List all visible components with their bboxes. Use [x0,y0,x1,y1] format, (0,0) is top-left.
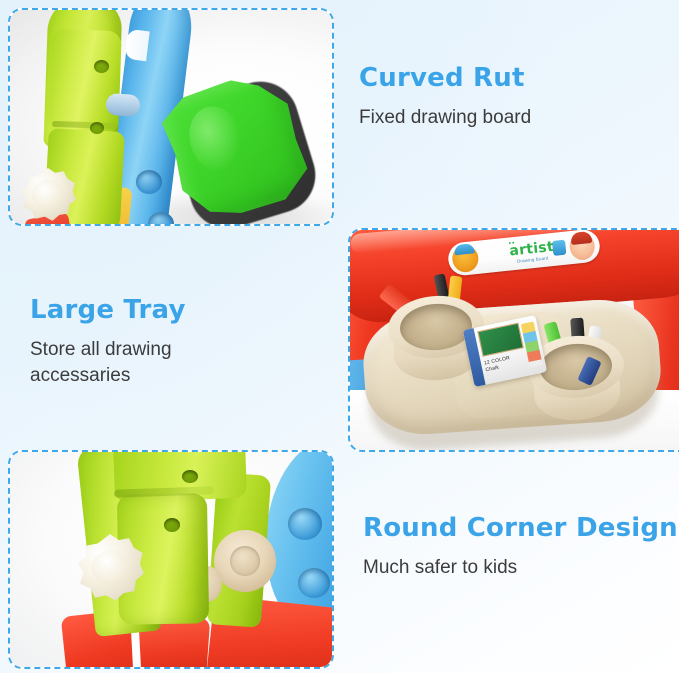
feature-heading-large-tray: Large Tray [30,295,310,325]
green-frame-middle [48,29,122,135]
girl-artist-hair-icon [570,231,592,245]
star-knob-face [92,550,130,586]
adjustment-hole-upper [182,470,198,483]
photo-panel-large-tray: •• artist Drawing Board [348,228,679,452]
adjustment-hole-upper [94,60,109,73]
feature-description-round-corner: Much safer to kids [363,555,673,581]
curved-rut-pin [105,93,140,117]
star-knob-face [32,180,64,210]
feature-heading-curved-rut: Curved Rut [359,63,659,93]
photo-panel-curved-rut [8,8,334,226]
feature-heading-round-corner: Round Corner Design [363,513,673,543]
blue-leg-notch [124,29,149,61]
infographic-canvas: Curved Rut Fixed drawing board Large Tra… [0,0,679,673]
blue-dimple-upper [136,170,162,194]
photo-curved-rut [10,10,332,224]
photo-large-tray: •• artist Drawing Board [350,230,679,450]
feature-description-large-tray: Store all drawing accessaries [30,337,240,388]
lion-cap-icon [454,243,475,255]
adjustment-hole-lower [90,122,104,134]
brand-dots-icon: •• [508,240,516,248]
tan-pivot-disc-ring [230,546,260,576]
feature-text-large-tray: Large Tray Store all drawing accessaries [30,295,310,388]
feature-description-curved-rut: Fixed drawing board [359,105,659,131]
photo-round-corner [10,452,332,667]
feature-text-curved-rut: Curved Rut Fixed drawing board [359,63,659,131]
feature-text-round-corner: Round Corner Design Much safer to kids [363,513,673,581]
adjustment-hole-lower [164,518,180,532]
blue-dimple-upper [288,508,322,540]
chalk-box-artwork [477,323,523,357]
brand-label-text: •• artist Drawing Board [493,239,556,267]
blue-dimple-lower [298,568,330,598]
photo-panel-round-corner [8,450,334,669]
